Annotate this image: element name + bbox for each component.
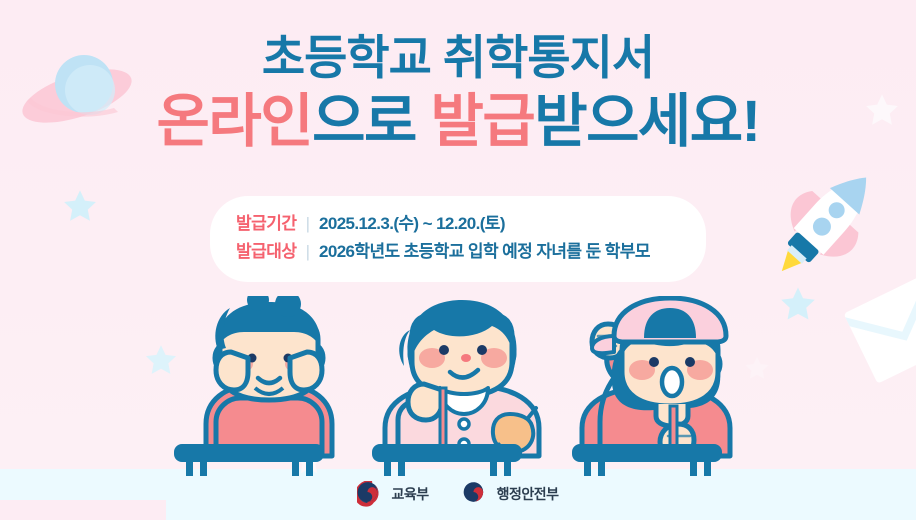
child-holding-pencil <box>385 300 539 456</box>
info-value-period: 2025.12.3.(수) ~ 12.20.(토) <box>319 210 505 238</box>
taeguk-icon <box>463 481 489 507</box>
headline-seg-euro: 으로 <box>312 89 430 154</box>
headline-block: 초등학교 취학통지서 온라인으로 발급받으세요! <box>0 34 916 151</box>
headline-line-2: 온라인으로 발급받으세요! <box>0 93 916 151</box>
child-raising-hand <box>582 298 730 458</box>
info-label-period: 발급기간 <box>236 210 297 238</box>
info-value-target: 2026학년도 초등학교 입학 예정 자녀를 둔 학부모 <box>319 238 650 266</box>
info-row-target: 발급대상 | 2026학년도 초등학교 입학 예정 자녀를 둔 학부모 <box>236 238 680 266</box>
info-separator: | <box>306 210 310 238</box>
child-hands-on-cheeks <box>206 296 332 456</box>
headline-seg-online: 온라인 <box>157 89 313 154</box>
ministry-logo-education: 교육부 <box>357 481 428 507</box>
rocket-icon <box>752 155 902 275</box>
desk <box>572 444 722 476</box>
ministry-logo-label: 교육부 <box>391 484 428 504</box>
promo-banner: 초등학교 취학통지서 온라인으로 발급받으세요! 발급기간 | 2025.12.… <box>0 0 916 520</box>
children-illustration <box>0 296 916 476</box>
headline-seg-receive: 받으세요! <box>534 89 759 154</box>
desk <box>372 444 522 476</box>
ministry-logos-footer: 교육부 행정안전부 <box>0 481 916 507</box>
info-separator: | <box>306 238 310 266</box>
headline-seg-issue: 발급 <box>430 89 534 154</box>
headline-line-1: 초등학교 취학통지서 <box>0 34 916 81</box>
star-icon <box>62 188 98 224</box>
ministry-logo-label: 행정안전부 <box>497 484 559 504</box>
info-row-period: 발급기간 | 2025.12.3.(수) ~ 12.20.(토) <box>236 210 680 238</box>
info-label-target: 발급대상 <box>236 238 297 266</box>
ministry-logo-interior: 행정안전부 <box>463 481 559 507</box>
desk <box>174 444 324 476</box>
info-pill: 발급기간 | 2025.12.3.(수) ~ 12.20.(토) 발급대상 | … <box>210 196 706 282</box>
taeguk-icon <box>357 481 383 507</box>
